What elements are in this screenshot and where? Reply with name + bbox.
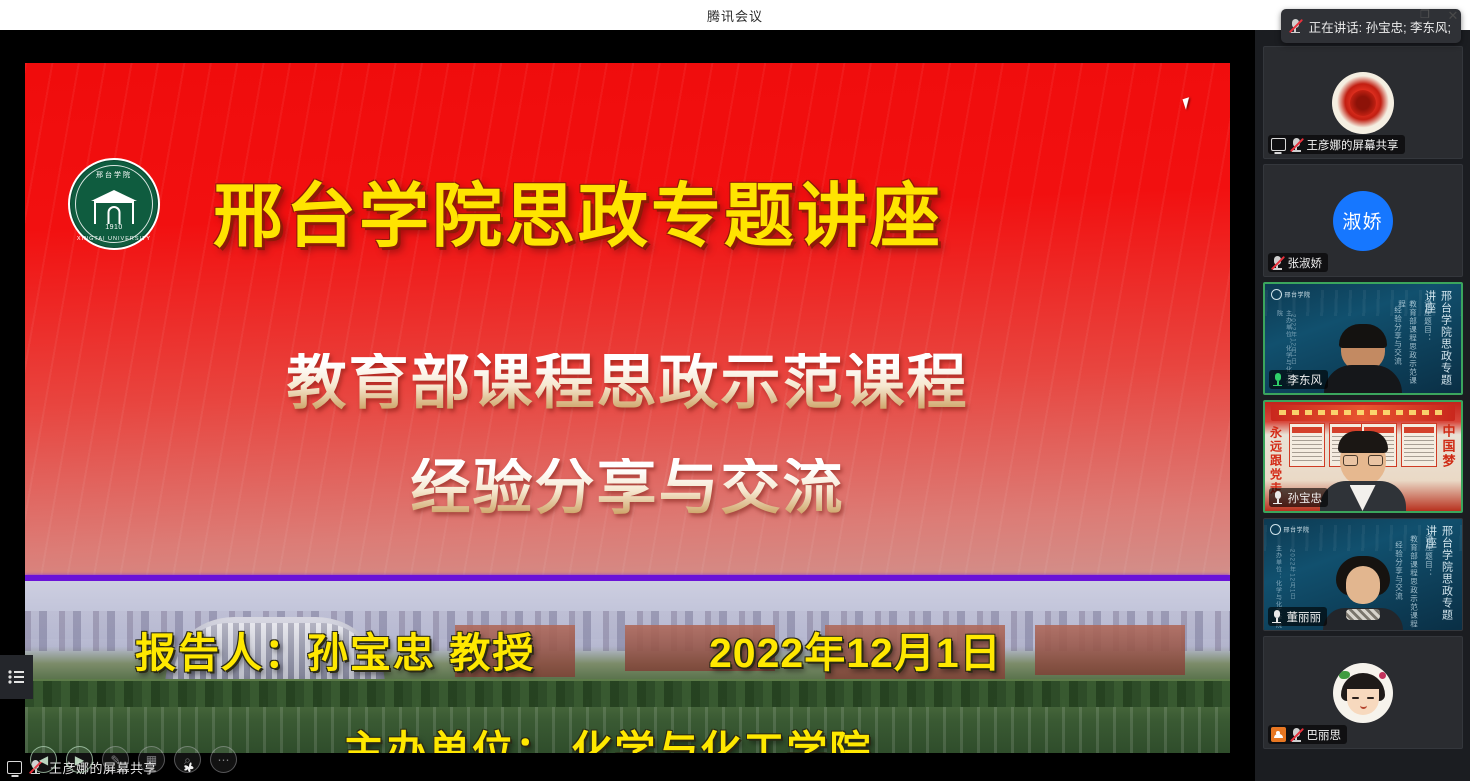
seal-chinese-name: 邢台学院 (96, 170, 132, 180)
participant-name-badge: 王彦娜的屏幕共享 (1268, 135, 1405, 154)
participant-name: 张淑娇 (1288, 255, 1323, 271)
outline-list-toggle[interactable] (0, 655, 33, 699)
participant-tile[interactable]: 王彦娜的屏幕共享 (1263, 46, 1463, 159)
avatar: 淑娇 (1333, 191, 1393, 251)
participant-tile[interactable]: 巴丽思 (1263, 636, 1463, 749)
university-seal-logo: 邢台学院 1910 XINGTAI UNIVERSITY (68, 158, 160, 250)
logo-text: 邢台学院 (1284, 525, 1310, 534)
mic-muted-icon (1271, 255, 1284, 271)
participant-tile[interactable]: 永远跟党走 中国梦 孙宝忠 (1263, 400, 1463, 513)
participant-tile[interactable]: 邢台学院 邢台学院思政专题讲座 讲座题目： 教育部课程思政示范课程 经验分享与交… (1263, 282, 1463, 395)
video-bg-label: 讲座题目： (1424, 535, 1435, 578)
seal-gate-icon (91, 190, 137, 224)
close-window-button[interactable]: ✕ (1440, 3, 1466, 27)
presentation-controls: ◀ ▶ ✎ ▦ ⌕ ⋯ (30, 746, 237, 773)
slide-subtitle-1: 教育部课程思政示范课程 (25, 353, 1230, 413)
meeting-window: 腾讯会议 ❐ ✕ 邢台学院 (0, 0, 1470, 781)
mic-active-icon (1271, 609, 1283, 624)
slide-organizer-line: 主办单位： 化学与化工学院 (343, 717, 872, 753)
video-bg-line: 教育部课程思政示范课程 (1409, 535, 1420, 629)
window-controls: ❐ ✕ (1412, 0, 1466, 30)
university-logo-overlay: 邢台学院 (1271, 289, 1311, 300)
prev-slide-button[interactable]: ◀ (30, 746, 57, 773)
video-bg-slogan-left: 永远跟党走 (1268, 426, 1285, 496)
participant-tile[interactable]: 淑娇 张淑娇 (1263, 164, 1463, 277)
participant-name: 董丽丽 (1287, 609, 1322, 625)
participant-name-badge: 巴丽思 (1268, 725, 1348, 744)
slide-view-button[interactable]: ▦ (138, 746, 165, 773)
video-bg-banner (1271, 405, 1455, 421)
participant-rail[interactable]: 王彦娜的屏幕共享 淑娇 张淑娇 邢台学院 邢台学院思政专题讲座 讲 (1255, 30, 1470, 781)
window-titlebar: 腾讯会议 (0, 0, 1470, 30)
screen-share-icon (1271, 138, 1286, 151)
participant-name: 巴丽思 (1307, 727, 1342, 743)
more-options-button[interactable]: ⋯ (210, 746, 237, 773)
participant-name: 王彦娜的屏幕共享 (1307, 137, 1399, 153)
zoom-button[interactable]: ⌕ (174, 746, 201, 773)
photo-tree-line (25, 681, 1230, 707)
host-badge-icon (1271, 727, 1286, 742)
mic-muted-icon (1289, 18, 1302, 34)
shared-screen-area[interactable]: 邢台学院 1910 XINGTAI UNIVERSITY 邢台学院思政专题讲座 … (0, 30, 1255, 781)
participant-name-badge: 孙宝忠 (1269, 488, 1329, 507)
mic-muted-icon (1290, 137, 1303, 153)
university-logo-overlay: 邢台学院 (1270, 524, 1310, 535)
participant-name-badge: 李东风 (1269, 370, 1329, 389)
video-bg-label: 讲座题目： (1423, 300, 1434, 343)
participant-video-person (1324, 327, 1402, 393)
logo-text: 邢台学院 (1285, 290, 1311, 299)
slide-date-line: 2022年12月1日 (709, 619, 1002, 679)
video-bg-slogan-right: 中国梦 (1439, 424, 1458, 469)
video-bg-date: 2022年12月1日 (1289, 314, 1298, 365)
avatar (1333, 663, 1393, 723)
glasses-icon (1343, 455, 1383, 466)
seal-year: 1910 (105, 224, 123, 231)
photo-building (1035, 625, 1185, 675)
participant-video-person (1323, 558, 1403, 630)
slide-main-title: 邢台学院思政专题讲座 (213, 181, 1113, 251)
mic-active-icon (1272, 490, 1284, 505)
screen-share-icon (7, 761, 22, 774)
slide-subtitle-2: 经验分享与交流 (25, 458, 1230, 518)
slide-presenter-line: 报告人：孙宝忠 教授 (135, 619, 535, 679)
participant-name-badge: 张淑娇 (1268, 253, 1329, 272)
avatar (1332, 72, 1394, 134)
mic-muted-icon (1290, 727, 1303, 743)
presentation-slide[interactable]: 邢台学院 1910 XINGTAI UNIVERSITY 邢台学院思政专题讲座 … (25, 63, 1230, 753)
video-bg-date: 2022年12月1日 (1288, 549, 1297, 600)
participant-tile[interactable]: 邢台学院 邢台学院思政专题讲座 讲座题目： 教育部课程思政示范课程 经验分享与交… (1263, 518, 1463, 631)
participant-name: 孙宝忠 (1288, 490, 1323, 506)
participant-name-badge: 董丽丽 (1268, 607, 1328, 626)
seal-english-name: XINGTAI UNIVERSITY (77, 236, 151, 242)
participant-name: 李东风 (1288, 372, 1323, 388)
next-slide-button[interactable]: ▶ (66, 746, 93, 773)
pen-annotation-button[interactable]: ✎ (102, 746, 129, 773)
participant-video-person (1319, 433, 1407, 511)
mic-active-icon (1272, 372, 1284, 387)
window-title: 腾讯会议 (707, 6, 763, 25)
list-icon (8, 670, 25, 684)
restore-window-button[interactable]: ❐ (1412, 3, 1438, 27)
